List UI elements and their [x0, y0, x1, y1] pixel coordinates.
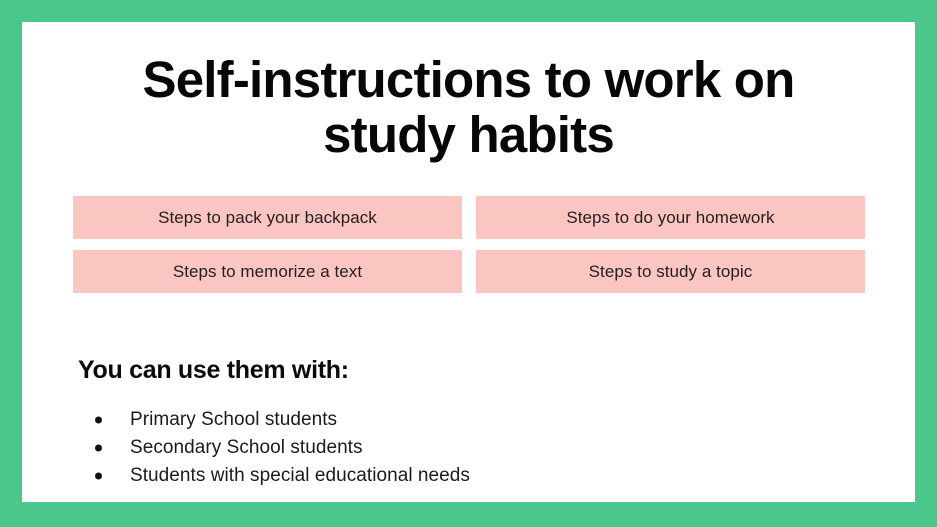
option-label: Steps to study a topic [589, 262, 753, 282]
slide-content-area: Self-instructions to work on study habit… [22, 22, 915, 502]
list-item-label: Students with special educational needs [130, 465, 470, 486]
list-item-label: Secondary School students [130, 437, 363, 458]
audience-list: Primary School students Secondary School… [78, 406, 470, 490]
option-label: Steps to do your homework [566, 208, 774, 228]
option-box-study-topic[interactable]: Steps to study a topic [476, 250, 865, 293]
list-item: Primary School students [78, 406, 470, 434]
slide: Self-instructions to work on study habit… [0, 0, 937, 527]
page-title-line-2: study habits [22, 107, 915, 162]
bullet-icon [95, 417, 102, 424]
bullet-icon [95, 473, 102, 480]
list-item-label: Primary School students [130, 409, 337, 430]
option-box-memorize-text[interactable]: Steps to memorize a text [73, 250, 462, 293]
option-grid: Steps to pack your backpack Steps to do … [73, 196, 865, 293]
list-item: Secondary School students [78, 434, 470, 462]
option-label: Steps to memorize a text [173, 262, 362, 282]
list-item: Students with special educational needs [78, 462, 470, 490]
bullet-icon [95, 445, 102, 452]
option-box-pack-backpack[interactable]: Steps to pack your backpack [73, 196, 462, 239]
page-title: Self-instructions to work on study habit… [22, 52, 915, 162]
usage-heading: You can use them with: [78, 355, 349, 385]
option-box-do-homework[interactable]: Steps to do your homework [476, 196, 865, 239]
page-title-line-1: Self-instructions to work on [22, 52, 915, 107]
option-label: Steps to pack your backpack [158, 208, 377, 228]
